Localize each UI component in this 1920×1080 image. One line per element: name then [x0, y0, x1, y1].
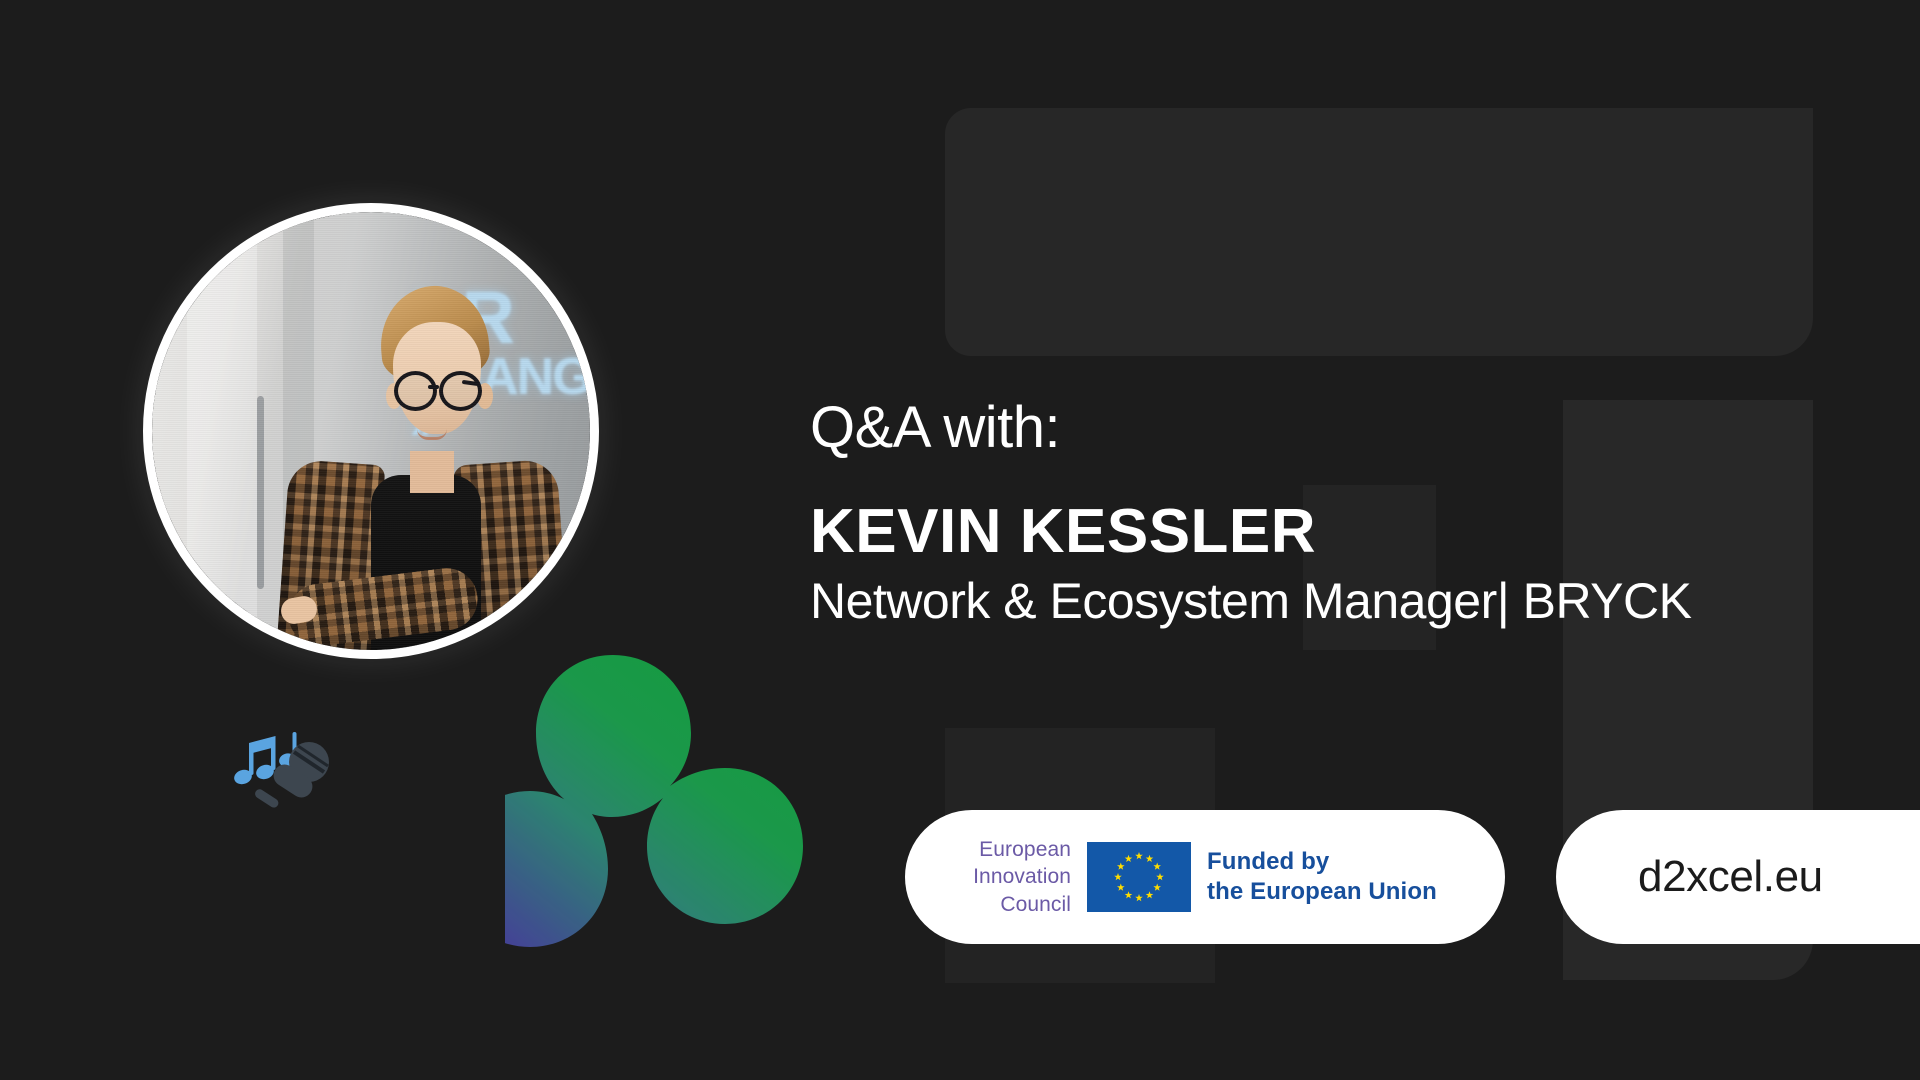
eyeglasses-lens-right: [439, 371, 482, 411]
slide-canvas: BR CHANGE » BRYCK: [0, 0, 1920, 1080]
funded-line-2: the European Union: [1207, 877, 1437, 907]
qa-eyebrow: Q&A with:: [810, 398, 1870, 459]
eic-logo-text: European Innovation Council: [973, 836, 1071, 918]
neck: [410, 451, 454, 493]
podcast-emoji-group: [228, 730, 338, 820]
d2xcel-logo-mark: [505, 650, 815, 970]
speaker-name: KEVIN KESSLER: [810, 501, 1870, 563]
mouth: [417, 429, 447, 440]
decor-rect-top-left: [945, 108, 1570, 356]
website-url[interactable]: d2xcel.eu: [1638, 852, 1823, 902]
eu-flag-icon: [1087, 842, 1191, 912]
funded-by-text: Funded by the European Union: [1207, 847, 1437, 907]
avatar: BR CHANGE » BRYCK: [143, 203, 599, 659]
decor-rect-top-right: [1563, 108, 1813, 356]
eu-funding-badge: European Innovation Council Funded by th…: [905, 810, 1505, 944]
funded-line-1: Funded by: [1207, 847, 1437, 877]
avatar-photo: BR CHANGE » BRYCK: [152, 212, 590, 650]
person-figure: BRYCK: [152, 212, 590, 650]
eic-line-2: Innovation: [973, 863, 1071, 890]
headline-block: Q&A with: KEVIN KESSLER Network & Ecosys…: [810, 398, 1870, 629]
eic-line-3: Council: [973, 891, 1071, 918]
speaker-role: Network & Ecosystem Manager| BRYCK: [810, 573, 1870, 629]
website-badge[interactable]: d2xcel.eu: [1556, 810, 1920, 944]
eic-line-1: European: [973, 836, 1071, 863]
eyeglasses-bridge: [428, 385, 439, 389]
